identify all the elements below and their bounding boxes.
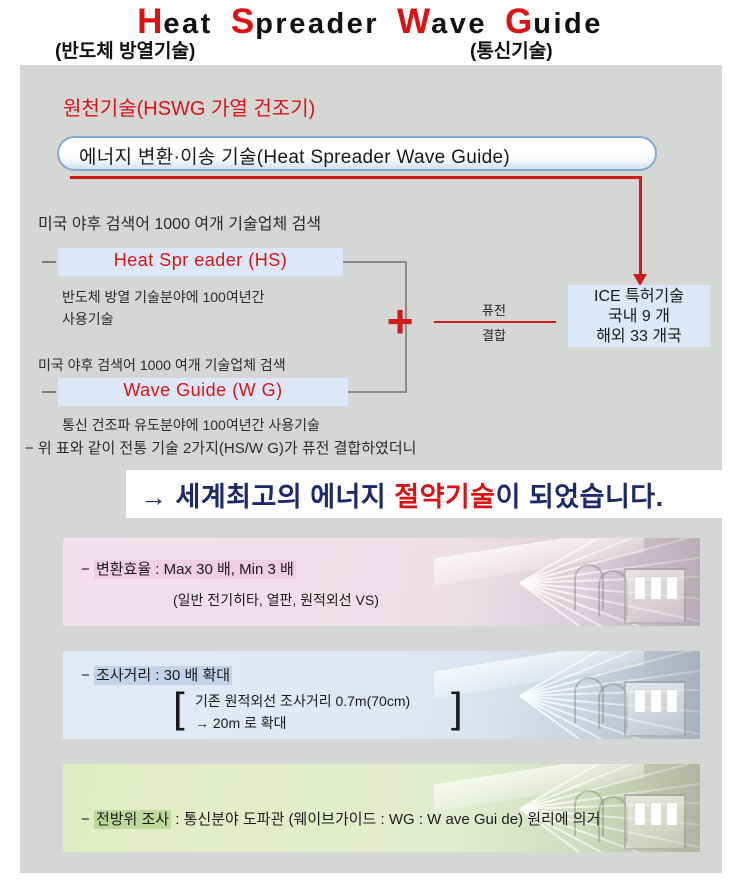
door-decoration xyxy=(624,568,686,624)
ice-overseas-count: 해외 33 개국 xyxy=(568,327,710,347)
blue-panel-bracket-group: [ 기존 원적외선 조사거리 0.7m(70cm) → 20m 로 확대 ] xyxy=(173,689,473,735)
fusion-caption-top: 퓨전 xyxy=(424,300,564,319)
bracket-bottom-segment xyxy=(348,391,407,393)
title-block: HeatSpreaderWaveGuide (반도체 방열기술) (통신기술) xyxy=(0,0,740,62)
bracket-left-icon: [ xyxy=(173,685,185,731)
ice-domestic-count: 국내 9 개 xyxy=(568,307,710,327)
highlight-statement-box: → 세계최고의 에너지 절약기술이 되었습니다. xyxy=(126,470,722,518)
highlight-statement-text: → 세계최고의 에너지 절약기술이 되었습니다. xyxy=(140,475,664,514)
subtitle-left: (반도체 방열기술) xyxy=(55,36,195,63)
highlight-emphasis: 절약기술 xyxy=(394,482,495,512)
green-panel-heading: − 전방위 조사 : 통신분야 도파관 (웨이브가이드 : WG : W ave… xyxy=(81,808,600,829)
door-decoration xyxy=(624,681,686,737)
capsule-label: 에너지 변환·이송 기술(Heat Spreader Wave Guide) xyxy=(79,142,510,169)
benefit-panel-omnidirectional: − 전방위 조사 : 통신분야 도파관 (웨이브가이드 : WG : W ave… xyxy=(63,764,700,852)
wave-guide-label: Wave Guide (W G) xyxy=(58,380,348,401)
ice-patent-title: ICE 특허기술 xyxy=(568,285,710,307)
pink-panel-heading: − 변환효율 : Max 30 배, Min 3 배 xyxy=(81,558,296,579)
wg-bullet-dash-icon xyxy=(42,391,56,393)
fusion-summary-line: − 위 표와 같이 전통 기술 2가지(HS/W G)가 퓨전 결합하였더니 xyxy=(25,437,416,458)
heat-spreader-box: Heat Spr eader (HS) xyxy=(58,248,343,276)
highlight-prefix: → 세계최고의 에너지 xyxy=(140,482,394,512)
hs-description-line-1: 반도체 방열 기술분야에 100여년간 xyxy=(62,287,264,307)
fusion-caption-bottom: 결합 xyxy=(424,325,564,344)
connector-red-vertical xyxy=(639,176,642,276)
content-panel xyxy=(20,65,722,873)
blue-panel-highlight: 조사거리 : 30 배 확대 xyxy=(94,666,232,685)
plus-icon: + xyxy=(381,303,419,341)
hs-description-line-2: 사용기술 xyxy=(62,309,114,329)
green-panel-tail: : 통신분야 도파관 (웨이브가이드 : WG : W ave Gui de) … xyxy=(171,811,600,828)
benefit-panel-conversion-efficiency: − 변환효율 : Max 30 배, Min 3 배 (일반 전기히타, 열판,… xyxy=(63,538,700,626)
bracket-top-segment xyxy=(343,261,407,263)
search-note-top: 미국 야후 검색어 1000 여개 기술업체 검색 xyxy=(38,210,321,234)
blue-panel-subtext-1: 기존 원적외선 조사거리 0.7m(70cm) xyxy=(195,691,410,711)
blue-panel-subtext-2: → 20m 로 확대 xyxy=(195,713,287,733)
blue-panel-heading: − 조사거리 : 30 배 확대 xyxy=(81,664,232,685)
heat-spreader-label: Heat Spr eader (HS) xyxy=(58,250,343,271)
subtitle-row: (반도체 방열기술) (통신기술) xyxy=(0,36,740,60)
pink-panel-highlight: 변환효율 : Max 30 배, Min 3 배 xyxy=(94,560,296,579)
pink-panel-dash: − xyxy=(81,561,94,578)
fusion-rule-line xyxy=(434,321,556,323)
fusion-caption-group: 퓨전 결합 xyxy=(424,300,564,346)
green-panel-highlight: 전방위 조사 xyxy=(94,810,171,829)
energy-conversion-capsule: 에너지 변환·이송 기술(Heat Spreader Wave Guide) xyxy=(57,136,657,171)
wave-guide-box: Wave Guide (W G) xyxy=(58,378,348,406)
source-tech-label: 원천기술(HSWG 가열 건조기) xyxy=(63,92,315,121)
green-panel-dash: − xyxy=(81,811,94,828)
ice-patent-box: ICE 특허기술 국내 9 개 해외 33 개국 xyxy=(568,285,710,347)
blue-panel-dash: − xyxy=(81,667,94,684)
highlight-suffix: 이 되었습니다. xyxy=(496,482,664,512)
benefit-panel-irradiation-distance: − 조사거리 : 30 배 확대 [ 기존 원적외선 조사거리 0.7m(70c… xyxy=(63,651,700,739)
pink-panel-subtext: (일반 전기히타, 열판, 원적외선 VS) xyxy=(173,590,379,610)
bracket-right-icon: ] xyxy=(451,685,463,731)
connector-red-horizontal xyxy=(70,176,642,179)
subtitle-right: (통신기술) xyxy=(470,36,553,63)
wg-description-line-1: 통신 건조파 유도분야에 100여년간 사용기술 xyxy=(62,415,320,435)
search-note-bottom: 미국 야후 검색어 1000 여개 기술업체 검색 xyxy=(38,355,286,375)
hs-bullet-dash-icon xyxy=(42,261,56,263)
slide-root: HeatSpreaderWaveGuide (반도체 방열기술) (통신기술) … xyxy=(0,0,740,883)
door-decoration xyxy=(624,794,686,850)
